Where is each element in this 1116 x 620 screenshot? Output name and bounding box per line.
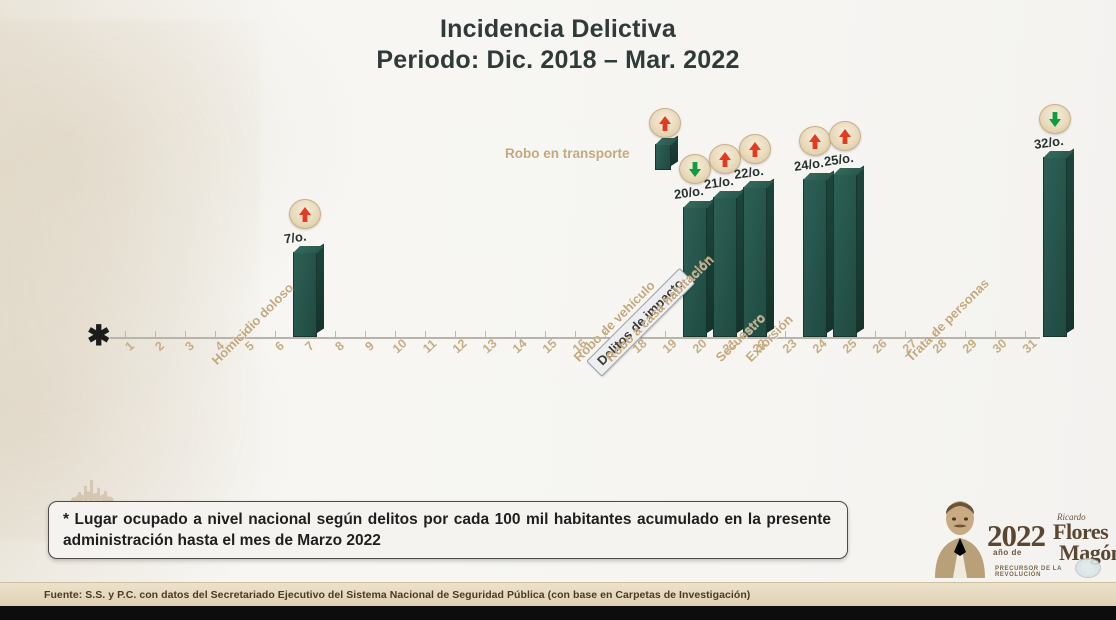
bar-homicidio-doloso[interactable] — [293, 252, 317, 337]
trend-badge-32 — [1039, 104, 1071, 134]
x-axis-tick-mark — [395, 331, 396, 337]
x-axis-tick-mark — [215, 331, 216, 337]
bottom-black-band — [0, 606, 1116, 620]
x-axis-tick-mark — [665, 331, 666, 337]
rank-label-32: 32/o. — [1033, 133, 1064, 152]
bar-face — [803, 179, 827, 337]
source-text: Fuente: S.S. y P.C. con datos del Secret… — [44, 589, 750, 601]
rank-label-21: 21/o. — [703, 173, 734, 192]
trend-badge-25 — [829, 121, 861, 151]
arrow-up-icon — [295, 204, 315, 225]
rank-label-22: 22/o. — [733, 163, 764, 182]
logo-seal-icon — [1075, 558, 1101, 578]
bar-face — [833, 174, 857, 337]
arrow-up-icon — [745, 139, 765, 160]
bar-face — [1043, 157, 1067, 337]
x-axis-tick-mark — [455, 331, 456, 337]
x-axis-tick-mark — [125, 331, 126, 337]
bar-secuestro[interactable] — [803, 179, 827, 337]
ricardo-flores-magon-portrait-icon — [929, 494, 991, 578]
x-axis-tick-mark — [365, 331, 366, 337]
axis-asterisk-marker: ✱ — [87, 326, 110, 346]
government-logo: 2022 año de Ricardo Flores Magón PRECURS… — [925, 492, 1110, 580]
category-label-trata-de-personas: Trata de personas — [903, 276, 992, 365]
trend-badge-22 — [739, 134, 771, 164]
bar-face — [713, 197, 737, 337]
arrow-down-icon — [1045, 109, 1065, 130]
x-axis-tick-mark — [155, 331, 156, 337]
x-axis-tick-mark — [185, 331, 186, 337]
x-axis-tick-mark — [995, 331, 996, 337]
x-axis-tick-mark — [575, 331, 576, 337]
trend-badge-24 — [799, 126, 831, 156]
rank-label-24: 24/o. — [793, 155, 824, 174]
bar-extorsi-n[interactable] — [833, 174, 857, 337]
rank-label-25: 25/o. — [823, 150, 854, 169]
legend-label-robo-en-transporte: Robo en transporte — [505, 146, 630, 161]
x-axis-tick-mark — [515, 331, 516, 337]
bar-side — [767, 178, 774, 333]
footnote-box: * Lugar ocupado a nivel nacional según d… — [48, 501, 848, 559]
bar-side — [317, 243, 324, 333]
arrow-up-icon — [805, 131, 825, 152]
x-axis-tick-mark — [905, 331, 906, 337]
logo-anio-de: año de — [993, 548, 1022, 557]
arrow-up-icon — [655, 113, 675, 134]
chart-plot-area: ✱ 12345678910111213141516171819202122232… — [0, 0, 1116, 500]
legend-bar-marker-icon — [655, 140, 675, 170]
x-axis-tick-mark — [965, 331, 966, 337]
trend-badge-7 — [289, 199, 321, 229]
category-label-homicidio-doloso: Homicidio doloso — [209, 280, 297, 368]
arrow-up-icon — [835, 126, 855, 147]
x-axis-tick-mark — [485, 331, 486, 337]
rank-label-20: 20/o. — [673, 183, 704, 202]
x-axis-tick-mark — [1025, 331, 1026, 337]
bar-side — [857, 165, 864, 333]
bar-side — [1067, 148, 1074, 333]
x-axis-tick-mark — [875, 331, 876, 337]
bar-face — [293, 252, 317, 337]
x-axis-tick-mark — [545, 331, 546, 337]
x-axis-tick-mark — [335, 331, 336, 337]
trend-badge-robo-en-transporte — [649, 108, 681, 138]
source-band: Fuente: S.S. y P.C. con datos del Secret… — [0, 582, 1116, 606]
bar-trata-de-personas[interactable] — [1043, 157, 1067, 337]
x-axis-tick-mark — [275, 331, 276, 337]
rank-label-7: 7/o. — [283, 229, 307, 247]
bar-delitos-de-impacto[interactable] — [713, 197, 737, 337]
x-axis-tick-mark — [425, 331, 426, 337]
slide-background: Incidencia Delictiva Periodo: Dic. 2018 … — [0, 0, 1116, 620]
